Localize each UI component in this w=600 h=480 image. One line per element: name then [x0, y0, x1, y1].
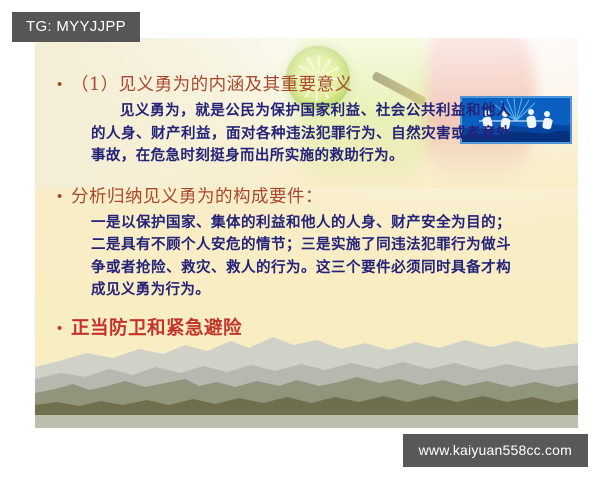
- presentation-slide: • （1）见义勇为的内涵及其重要意义 见义勇为，就是公民为保护国家利益、社会公共…: [35, 38, 578, 428]
- bullet-dot-icon: •: [57, 72, 71, 98]
- slide-content: • （1）见义勇为的内涵及其重要意义 见义勇为，就是公民为保护国家利益、社会公共…: [35, 38, 578, 428]
- bullet-dot-icon: •: [57, 184, 71, 210]
- paragraph-2-text: 一是以保护国家、集体的利益和他人的人身、财产安全为目的；二是具有不顾个人安危的情…: [91, 212, 511, 302]
- bullet-dot-icon: •: [57, 316, 71, 342]
- heading-1-text: （1）见义勇为的内涵及其重要意义: [71, 72, 353, 98]
- spacer-2: [57, 302, 556, 316]
- bullet-heading-2: • 分析归纳见义勇为的构成要件：: [57, 184, 556, 210]
- bullet-heading-3: • 正当防卫和紧急避险: [57, 316, 556, 342]
- heading-3-text: 正当防卫和紧急避险: [71, 316, 242, 342]
- bullet-heading-1: • （1）见义勇为的内涵及其重要意义: [57, 72, 556, 98]
- heading-2-text: 分析归纳见义勇为的构成要件：: [71, 184, 323, 210]
- paragraph-1-text: 见义勇为，就是公民为保护国家利益、社会公共利益和他人的人身、财产利益，面对各种违…: [91, 100, 511, 168]
- spacer-1: [57, 168, 556, 184]
- telegram-tag-badge: TG: MYYJJPP: [12, 12, 140, 42]
- website-watermark-badge: www.kaiyuan558cc.com: [403, 434, 588, 467]
